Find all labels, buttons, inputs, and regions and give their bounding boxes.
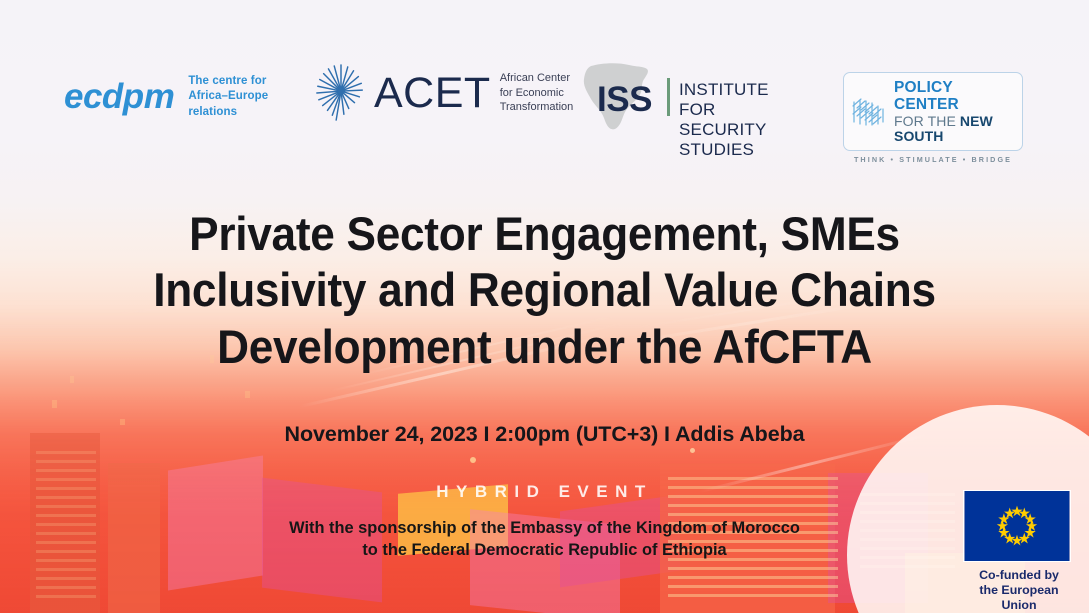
sponsorship-line: to the Federal Democratic Republic of Et… xyxy=(0,540,1089,562)
policy-center-lockup: POLICY CENTER FOR THE NEW SOUTH xyxy=(843,72,1023,151)
title-line: Private Sector Engagement, SMEs xyxy=(89,206,1000,262)
event-datetime-location: November 24, 2023 I 2:00pm (UTC+3) I Add… xyxy=(0,422,1089,447)
acet-tagline-line: Transformation xyxy=(500,100,574,115)
policy-center-line2-prefix: FOR THE xyxy=(894,113,960,129)
iss-fullname-line: SECURITY STUDIES xyxy=(679,120,803,160)
logo-policy-center-new-south: POLICY CENTER FOR THE NEW SOUTH THINK • … xyxy=(843,72,1023,164)
acet-africa-burst-icon xyxy=(312,62,370,124)
sponsorship-line: With the sponsorship of the Embassy of t… xyxy=(0,518,1089,540)
policy-center-weave-icon xyxy=(852,98,888,126)
eu-cofunding-caption: Co-funded by the European Union xyxy=(963,568,1075,613)
partner-logo-bar: ecdpm The centre for Africa–Europe relat… xyxy=(0,0,1089,163)
policy-center-line1: POLICY CENTER xyxy=(894,79,1014,114)
eu-caption-line: Co-funded by xyxy=(963,568,1075,583)
event-format-label: HYBRID EVENT xyxy=(0,482,1089,502)
acet-tagline-line: for Economic xyxy=(500,86,574,101)
ecdpm-tagline: The centre for Africa–Europe relations xyxy=(188,74,268,120)
acet-acronym: ACET xyxy=(374,72,491,115)
iss-acronym: ISS xyxy=(597,82,652,117)
european-union-flag-icon xyxy=(963,490,1071,562)
ecdpm-wordmark: ecdpm xyxy=(64,79,174,114)
title-line: Development under the AfCFTA xyxy=(89,319,1000,375)
iss-fullname: INSTITUTE FOR SECURITY STUDIES xyxy=(679,80,803,160)
page-title: Private Sector Engagement, SMEs Inclusiv… xyxy=(0,206,1089,375)
acet-tagline-line: African Center xyxy=(500,71,574,86)
title-line: Inclusivity and Regional Value Chains xyxy=(89,262,1000,318)
window-light xyxy=(52,400,57,408)
eu-cofunding-badge: Co-funded by the European Union xyxy=(963,490,1075,613)
event-poster: ecdpm The centre for Africa–Europe relat… xyxy=(0,0,1089,613)
ecdpm-tagline-line: relations xyxy=(188,105,268,120)
logo-ecdpm: ecdpm The centre for Africa–Europe relat… xyxy=(64,74,268,120)
window-light xyxy=(470,457,476,463)
eu-caption-line: the European Union xyxy=(963,583,1075,613)
ecdpm-tagline-line: Africa–Europe xyxy=(188,89,268,104)
iss-fullname-line: INSTITUTE FOR xyxy=(679,80,803,120)
iss-divider xyxy=(667,78,670,116)
window-light xyxy=(245,391,250,398)
logo-iss: ISS INSTITUTE FOR SECURITY STUDIES xyxy=(571,60,803,132)
window-light xyxy=(690,448,695,453)
sponsorship-note: With the sponsorship of the Embassy of t… xyxy=(0,518,1089,562)
logo-acet: ACET African Center for Economic Transfo… xyxy=(312,62,573,124)
policy-center-tagline: THINK • STIMULATE • BRIDGE xyxy=(843,155,1023,164)
policy-center-line2: FOR THE NEW SOUTH xyxy=(894,114,1014,145)
ecdpm-tagline-line: The centre for xyxy=(188,74,268,89)
acet-tagline: African Center for Economic Transformati… xyxy=(500,71,574,116)
window-light xyxy=(70,376,74,383)
